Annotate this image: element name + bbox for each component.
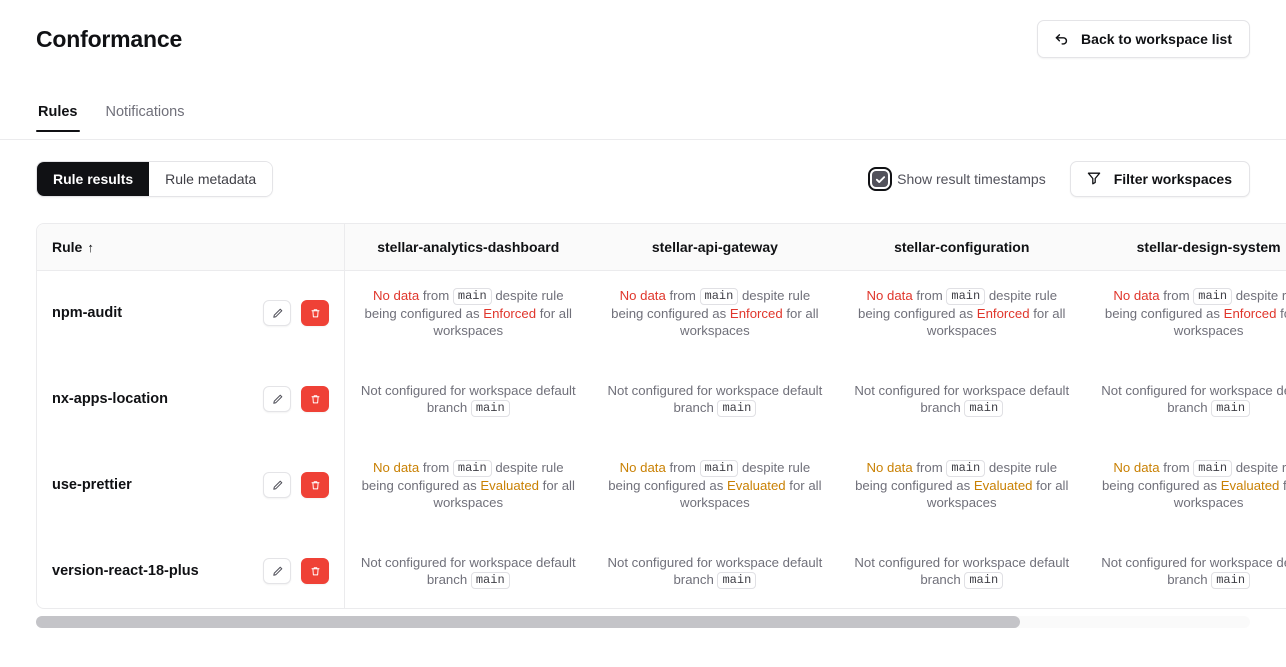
result-cell: No data from main despite rule being con… <box>1085 270 1286 356</box>
table-row: npm-auditNo data from main despite rule … <box>37 270 1286 356</box>
branch-chip: main <box>946 288 985 305</box>
branch-chip: main <box>471 572 510 589</box>
result-cell: Not configured for workspace default bra… <box>345 356 592 442</box>
result-message: Not configured for workspace default bra… <box>361 555 576 587</box>
branch-chip: main <box>1211 400 1250 417</box>
rule-name: nx-apps-location <box>52 391 168 407</box>
result-status-no-data: No data <box>1113 460 1159 475</box>
trash-icon-button[interactable] <box>301 472 329 498</box>
result-cell: Not configured for workspace default bra… <box>1085 528 1286 609</box>
result-cell: Not configured for workspace default bra… <box>591 528 838 609</box>
branch-chip: main <box>453 460 492 477</box>
result-status-mode: Evaluated <box>974 478 1033 493</box>
result-message: Not configured for workspace default bra… <box>854 383 1069 415</box>
result-message: Not configured for workspace default bra… <box>607 555 822 587</box>
table-head: Rule↑ stellar-analytics-dashboard stella… <box>37 224 1286 270</box>
rule-actions <box>263 558 329 584</box>
show-result-timestamps-toggle[interactable]: Show result timestamps <box>872 171 1046 187</box>
rule-actions <box>263 300 329 326</box>
arrow-uturn-left-icon <box>1053 31 1070 48</box>
result-cell: Not configured for workspace default bra… <box>1085 356 1286 442</box>
page-header: Conformance Back to workspace list <box>0 0 1286 78</box>
result-status-no-data: No data <box>373 288 419 303</box>
result-message: Not configured for workspace default bra… <box>1101 555 1286 587</box>
branch-chip: main <box>471 400 510 417</box>
rule-actions <box>263 472 329 498</box>
result-status-no-data: No data <box>866 288 912 303</box>
result-status-mode: Enforced <box>730 306 783 321</box>
back-to-workspace-list-button[interactable]: Back to workspace list <box>1037 20 1250 58</box>
result-cell: Not configured for workspace default bra… <box>345 528 592 609</box>
result-message: Not configured for workspace default bra… <box>854 555 1069 587</box>
tab-rules[interactable]: Rules <box>36 104 80 131</box>
trash-icon-button[interactable] <box>301 300 329 326</box>
sort-ascending-icon: ↑ <box>87 240 94 255</box>
rule-cell: nx-apps-location <box>37 356 345 442</box>
branch-chip: main <box>1193 460 1232 477</box>
result-message: No data from main despite rule being con… <box>1102 460 1286 510</box>
column-header-rule-label: Rule <box>52 239 82 255</box>
branch-chip: main <box>964 400 1003 417</box>
result-status-no-data: No data <box>1113 288 1159 303</box>
result-cell: No data from main despite rule being con… <box>591 442 838 528</box>
table-header-row: Rule↑ stellar-analytics-dashboard stella… <box>37 224 1286 270</box>
column-header-workspace-2[interactable]: stellar-configuration <box>838 224 1085 270</box>
checkbox-checked-icon[interactable] <box>872 171 888 187</box>
rule-cell: use-prettier <box>37 442 345 528</box>
rule-name: version-react-18-plus <box>52 563 199 579</box>
column-header-workspace-1[interactable]: stellar-api-gateway <box>591 224 838 270</box>
table-row: nx-apps-locationNot configured for works… <box>37 356 1286 442</box>
branch-chip: main <box>964 572 1003 589</box>
result-message: No data from main despite rule being con… <box>365 288 573 338</box>
result-status-mode: Evaluated <box>727 478 786 493</box>
segment-rule-results[interactable]: Rule results <box>37 162 149 196</box>
show-result-timestamps-label: Show result timestamps <box>897 171 1046 187</box>
funnel-icon <box>1086 170 1102 189</box>
branch-chip: main <box>946 460 985 477</box>
view-mode-segmented-control: Rule results Rule metadata <box>36 161 273 197</box>
trash-icon-button[interactable] <box>301 558 329 584</box>
branch-chip: main <box>1193 288 1232 305</box>
result-cell: No data from main despite rule being con… <box>838 270 1085 356</box>
result-message: No data from main despite rule being con… <box>362 460 575 510</box>
result-message: No data from main despite rule being con… <box>611 288 819 338</box>
table-row: version-react-18-plusNot configured for … <box>37 528 1286 609</box>
controls-row: Rule results Rule metadata Show result t… <box>0 161 1286 197</box>
back-button-label: Back to workspace list <box>1081 31 1232 47</box>
result-status-mode: Enforced <box>1224 306 1277 321</box>
result-status-mode: Evaluated <box>480 478 539 493</box>
result-cell: No data from main despite rule being con… <box>591 270 838 356</box>
result-message: Not configured for workspace default bra… <box>1101 383 1286 415</box>
table-row: use-prettierNo data from main despite ru… <box>37 442 1286 528</box>
rules-table: Rule↑ stellar-analytics-dashboard stella… <box>37 224 1286 609</box>
controls-right-group: Show result timestamps Filter workspaces <box>872 161 1250 197</box>
branch-chip: main <box>453 288 492 305</box>
result-cell: No data from main despite rule being con… <box>345 442 592 528</box>
rules-table-container: Rule↑ stellar-analytics-dashboard stella… <box>36 223 1286 609</box>
rule-cell: npm-audit <box>37 270 345 356</box>
result-status-mode: Enforced <box>483 306 536 321</box>
result-message: No data from main despite rule being con… <box>608 460 821 510</box>
column-header-workspace-3[interactable]: stellar-design-system <box>1085 224 1286 270</box>
result-cell: Not configured for workspace default bra… <box>838 356 1085 442</box>
result-status-no-data: No data <box>866 460 912 475</box>
rule-name: use-prettier <box>52 477 132 493</box>
conformance-page: Conformance Back to workspace list Rules… <box>0 0 1286 667</box>
rule-actions <box>263 386 329 412</box>
branch-chip: main <box>700 460 739 477</box>
result-cell: Not configured for workspace default bra… <box>591 356 838 442</box>
column-header-rule[interactable]: Rule↑ <box>37 224 345 270</box>
result-cell: No data from main despite rule being con… <box>345 270 592 356</box>
result-status-no-data: No data <box>373 460 419 475</box>
result-status-mode: Evaluated <box>1221 478 1280 493</box>
result-cell: No data from main despite rule being con… <box>1085 442 1286 528</box>
tab-notifications[interactable]: Notifications <box>104 104 187 131</box>
filter-workspaces-label: Filter workspaces <box>1114 171 1232 187</box>
segment-rule-metadata[interactable]: Rule metadata <box>149 162 272 196</box>
branch-chip: main <box>717 400 756 417</box>
branch-chip: main <box>700 288 739 305</box>
result-status-no-data: No data <box>620 460 666 475</box>
horizontal-scrollbar-thumb[interactable] <box>36 616 1020 628</box>
result-message: No data from main despite rule being con… <box>858 288 1066 338</box>
pencil-icon-button[interactable] <box>263 472 291 498</box>
pencil-icon-button[interactable] <box>263 558 291 584</box>
rule-name: npm-audit <box>52 305 122 321</box>
result-cell: No data from main despite rule being con… <box>838 442 1085 528</box>
result-message: No data from main despite rule being con… <box>1105 288 1286 338</box>
branch-chip: main <box>717 572 756 589</box>
column-header-workspace-0[interactable]: stellar-analytics-dashboard <box>345 224 592 270</box>
result-cell: Not configured for workspace default bra… <box>838 528 1085 609</box>
pencil-icon-button[interactable] <box>263 300 291 326</box>
table-body: npm-auditNo data from main despite rule … <box>37 270 1286 609</box>
rule-cell: version-react-18-plus <box>37 528 345 609</box>
result-status-no-data: No data <box>620 288 666 303</box>
horizontal-scrollbar-track[interactable] <box>36 616 1250 628</box>
filter-workspaces-button[interactable]: Filter workspaces <box>1070 161 1250 197</box>
page-title: Conformance <box>36 26 182 53</box>
result-message: No data from main despite rule being con… <box>855 460 1068 510</box>
result-message: Not configured for workspace default bra… <box>361 383 576 415</box>
result-message: Not configured for workspace default bra… <box>607 383 822 415</box>
trash-icon-button[interactable] <box>301 386 329 412</box>
branch-chip: main <box>1211 572 1250 589</box>
pencil-icon-button[interactable] <box>263 386 291 412</box>
tab-bar: Rules Notifications <box>0 104 1286 140</box>
result-status-mode: Enforced <box>977 306 1030 321</box>
